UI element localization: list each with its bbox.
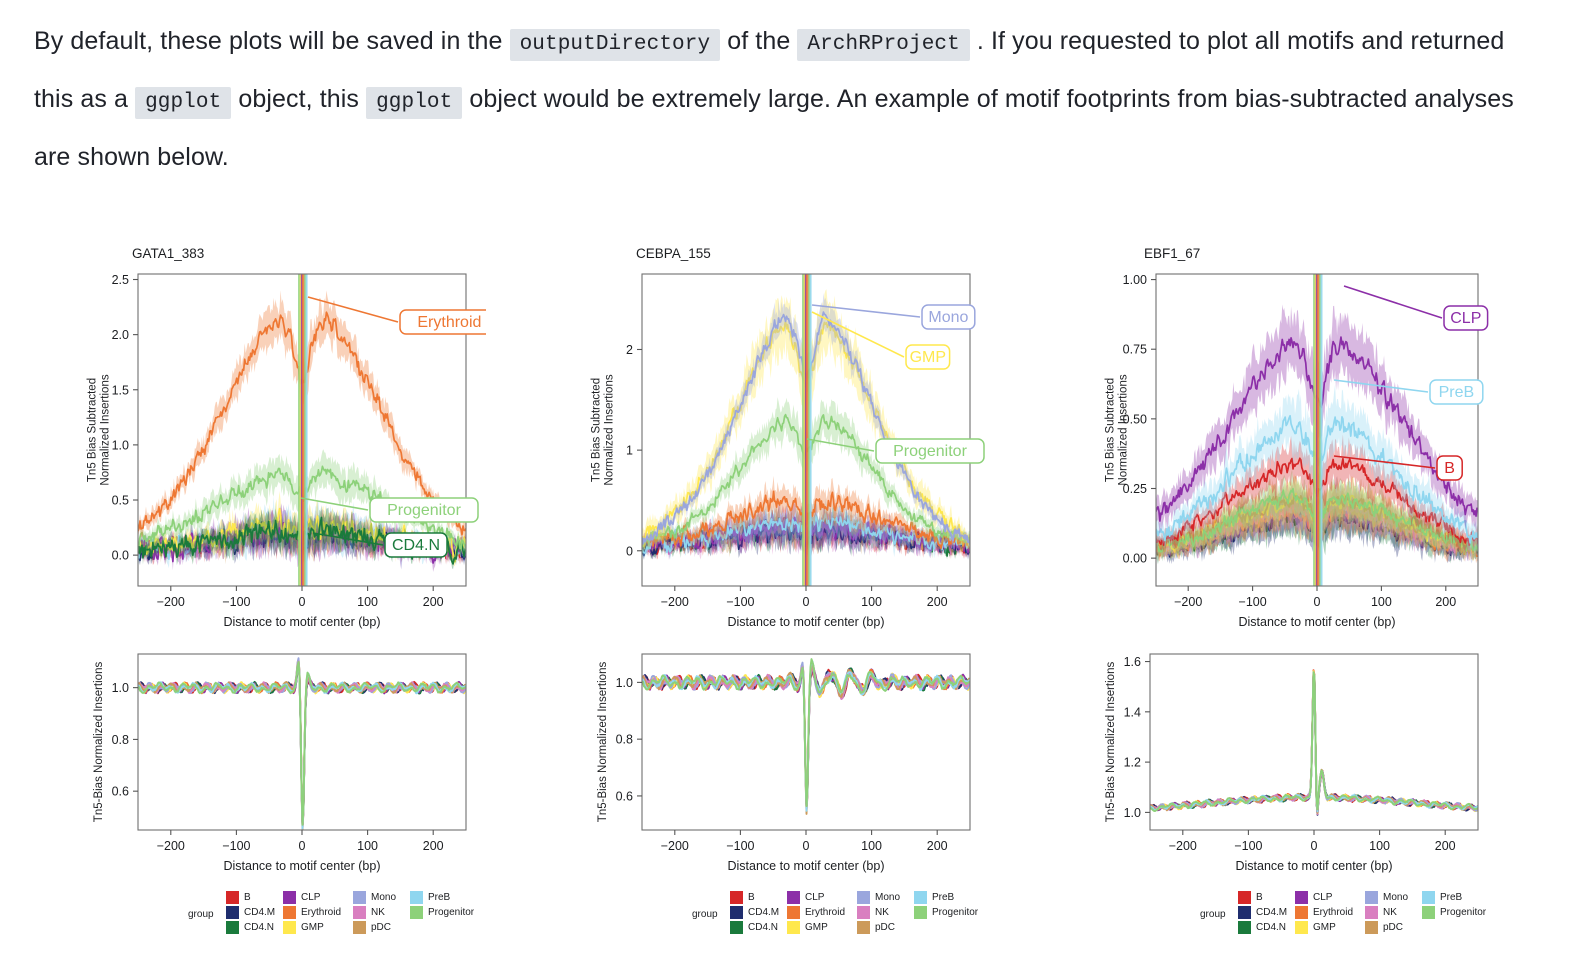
- legend-column: PreBProgenitor: [410, 890, 474, 920]
- legend-label: CLP: [301, 891, 320, 904]
- legend-swatch-gmp: [787, 921, 800, 934]
- legend-item-b[interactable]: B: [730, 890, 779, 905]
- y-tick-label: 1.6: [1124, 655, 1141, 669]
- callout-label: CLP: [1450, 310, 1481, 327]
- y-tick-label: 0: [626, 544, 633, 558]
- legend-column: MonoNKpDC: [353, 890, 396, 935]
- legend-swatch-mono: [857, 891, 870, 904]
- legend-label: Progenitor: [428, 906, 474, 919]
- legend-item-erythroid[interactable]: Erythroid: [283, 905, 341, 920]
- legend-item-mono[interactable]: Mono: [857, 890, 900, 905]
- legend-title: group: [188, 909, 214, 920]
- legend-label: Erythroid: [301, 906, 341, 919]
- legend-swatch-erythroid: [787, 906, 800, 919]
- legend-item-b[interactable]: B: [226, 890, 275, 905]
- legend-item-nk[interactable]: NK: [857, 905, 900, 920]
- legend-label: CD4.M: [1256, 906, 1287, 919]
- plot-surface-gata1-top: −200−10001002000.00.51.01.52.02.5Distanc…: [66, 256, 486, 631]
- x-tick-label: 200: [927, 839, 948, 853]
- legend-swatch-pdc: [857, 921, 870, 934]
- svg-text:Tn5-Bias Normalized Insertions: Tn5-Bias Normalized Insertions: [597, 662, 609, 823]
- legend-item-cd4-n[interactable]: CD4.N: [1238, 920, 1287, 935]
- legend-title: group: [692, 909, 718, 920]
- y-tick-label: 2.5: [112, 273, 129, 287]
- legend-item-erythroid[interactable]: Erythroid: [1295, 905, 1353, 920]
- x-tick-label: 100: [357, 839, 378, 853]
- y-axis-title: Tn5-Bias Normalized Insertions: [1105, 662, 1117, 823]
- inline-code-ggplot: ggplot: [366, 87, 462, 119]
- intro-paragraph: By default, these plots will be saved in…: [34, 14, 1544, 184]
- x-axis-title: Distance to motif center (bp): [727, 615, 884, 629]
- legend-label: PreB: [932, 891, 954, 904]
- legend-swatch-progenitor: [410, 906, 423, 919]
- legend-label: GMP: [805, 921, 828, 934]
- legend-swatch-clp: [1295, 891, 1308, 904]
- legend-label: Mono: [1383, 891, 1408, 904]
- y-tick-label: 1.0: [112, 438, 129, 452]
- legend-column: BCD4.MCD4.N: [730, 890, 779, 935]
- legend-item-mono[interactable]: Mono: [1365, 890, 1408, 905]
- plot-surface-cebpa-top: −200−1000100200012Distance to motif cent…: [570, 256, 990, 631]
- legend-swatch-b: [226, 891, 239, 904]
- callout-label: Mono: [928, 309, 968, 326]
- legend-swatch-cd4-n: [730, 921, 743, 934]
- chart-cebpa-bottom: −200−10001002000.60.81.0Distance to moti…: [570, 640, 990, 875]
- x-tick-label: 0: [1314, 595, 1321, 609]
- legend-swatch-cd4-n: [226, 921, 239, 934]
- legend-label: GMP: [1313, 921, 1336, 934]
- legend-column: CLPErythroidGMP: [787, 890, 845, 935]
- legend-item-pdc[interactable]: pDC: [353, 920, 396, 935]
- callout-label: GMP: [910, 349, 946, 366]
- x-tick-label: 100: [357, 595, 378, 609]
- x-tick-label: 100: [861, 839, 882, 853]
- legend-item-preb[interactable]: PreB: [410, 890, 474, 905]
- x-tick-label: −100: [222, 839, 250, 853]
- plot-surface-gata1-bottom: −200−10001002000.60.81.0Distance to moti…: [66, 640, 486, 875]
- legend-item-progenitor[interactable]: Progenitor: [410, 905, 474, 920]
- legend-label: CD4.N: [244, 921, 274, 934]
- legend-swatch-clp: [283, 891, 296, 904]
- y-axis-title: Tn5-Bias Normalized Insertions: [597, 662, 609, 823]
- chart-gata1-bottom: −200−10001002000.60.81.0Distance to moti…: [66, 640, 486, 875]
- x-axis-title: Distance to motif center (bp): [223, 615, 380, 629]
- x-tick-label: −100: [726, 839, 754, 853]
- legend-item-cd4-n[interactable]: CD4.N: [730, 920, 779, 935]
- legend-item-cd4-n[interactable]: CD4.N: [226, 920, 275, 935]
- legend-label: NK: [875, 906, 889, 919]
- y-tick-label: 1.0: [1124, 806, 1141, 820]
- svg-text:Tn5 Bias Subtracted: Tn5 Bias Subtracted: [1105, 378, 1117, 482]
- y-tick-label: 0.8: [112, 733, 129, 747]
- x-tick-label: 200: [423, 595, 444, 609]
- x-tick-label: 200: [927, 595, 948, 609]
- legend-swatch-cd4-n: [1238, 921, 1251, 934]
- legend-column: PreBProgenitor: [1422, 890, 1486, 920]
- x-tick-label: −200: [1169, 839, 1197, 853]
- legend-title: group: [1200, 909, 1226, 920]
- callout-label: Erythroid: [417, 314, 481, 331]
- legend-item-progenitor[interactable]: Progenitor: [914, 905, 978, 920]
- legend-label: pDC: [371, 921, 391, 934]
- y-axis-title: Tn5 Bias SubtractedNormalized Insertions: [591, 374, 616, 485]
- legend-item-preb[interactable]: PreB: [1422, 890, 1486, 905]
- chart-cebpa-top: −200−1000100200012Distance to motif cent…: [570, 256, 990, 631]
- svg-text:Tn5 Bias Subtracted: Tn5 Bias Subtracted: [87, 378, 99, 482]
- x-tick-label: 0: [299, 839, 306, 853]
- legend-swatch-erythroid: [1295, 906, 1308, 919]
- legend-swatch-pdc: [1365, 921, 1378, 934]
- legend-item-cd4-m[interactable]: CD4.M: [226, 905, 275, 920]
- legend-label: Mono: [371, 891, 396, 904]
- legend-label: Progenitor: [932, 906, 978, 919]
- x-tick-label: −200: [661, 839, 689, 853]
- x-tick-label: −200: [157, 839, 185, 853]
- x-tick-label: −100: [1234, 839, 1262, 853]
- legend-swatch-mono: [353, 891, 366, 904]
- legend-swatch-nk: [353, 906, 366, 919]
- legend-item-clp[interactable]: CLP: [1295, 890, 1353, 905]
- legend-label: Progenitor: [1440, 906, 1486, 919]
- inline-code-archrproject: ArchRProject: [797, 29, 969, 61]
- legend-label: pDC: [1383, 921, 1403, 934]
- legend-item-gmp[interactable]: GMP: [787, 920, 845, 935]
- plot-surface-cebpa-bottom: −200−10001002000.60.81.0Distance to moti…: [570, 640, 990, 875]
- legend-swatch-clp: [787, 891, 800, 904]
- legend-column: MonoNKpDC: [1365, 890, 1408, 935]
- legend-label: PreB: [1440, 891, 1462, 904]
- y-tick-label: 1: [626, 444, 633, 458]
- legend-column: CLPErythroidGMP: [1295, 890, 1353, 935]
- legend-swatch-cd4-m: [226, 906, 239, 919]
- legend-item-pdc[interactable]: pDC: [1365, 920, 1408, 935]
- legend-label: CD4.N: [748, 921, 778, 934]
- legend-item-pdc[interactable]: pDC: [857, 920, 900, 935]
- svg-text:Normalized Insertions: Normalized Insertions: [1118, 374, 1130, 485]
- y-axis-title: Tn5-Bias Normalized Insertions: [93, 662, 105, 823]
- legend-swatch-b: [730, 891, 743, 904]
- legend-swatch-progenitor: [1422, 906, 1435, 919]
- legend-swatch-mono: [1365, 891, 1378, 904]
- chart-gata1-top: −200−10001002000.00.51.01.52.02.5Distanc…: [66, 256, 486, 631]
- legend-item-gmp[interactable]: GMP: [283, 920, 341, 935]
- x-axis-title: Distance to motif center (bp): [223, 859, 380, 873]
- legend-label: B: [244, 891, 251, 904]
- legend-swatch-cd4-m: [1238, 906, 1251, 919]
- legend-item-erythroid[interactable]: Erythroid: [787, 905, 845, 920]
- x-tick-label: 200: [1435, 595, 1456, 609]
- y-tick-label: 1.0: [112, 681, 129, 695]
- legend-column: PreBProgenitor: [914, 890, 978, 920]
- legend-swatch-gmp: [1295, 921, 1308, 934]
- chart-ebf1-top: −200−10001002000.000.250.500.751.00Dista…: [1078, 256, 1498, 631]
- legend-column: CLPErythroidGMP: [283, 890, 341, 935]
- legend-item-nk[interactable]: NK: [353, 905, 396, 920]
- x-axis-title: Distance to motif center (bp): [727, 859, 884, 873]
- y-tick-label: 0.6: [616, 789, 633, 803]
- x-tick-label: −200: [661, 595, 689, 609]
- legend-label: CD4.M: [748, 906, 779, 919]
- legend-swatch-b: [1238, 891, 1251, 904]
- legend-swatch-erythroid: [283, 906, 296, 919]
- x-axis-title: Distance to motif center (bp): [1235, 859, 1392, 873]
- callout-label: B: [1444, 460, 1455, 477]
- legend-item-preb[interactable]: PreB: [914, 890, 978, 905]
- x-tick-label: 200: [1435, 839, 1456, 853]
- legend-swatch-preb: [410, 891, 423, 904]
- legend-swatch-preb: [1422, 891, 1435, 904]
- chart-ebf1-bottom: −200−10001002001.01.21.41.6Distance to m…: [1078, 640, 1498, 875]
- svg-text:Tn5-Bias Normalized Insertions: Tn5-Bias Normalized Insertions: [1105, 662, 1117, 823]
- plot-surface-ebf1-bottom: −200−10001002001.01.21.41.6Distance to m…: [1078, 640, 1498, 875]
- legend-column: BCD4.MCD4.N: [226, 890, 275, 935]
- svg-text:Normalized Insertions: Normalized Insertions: [100, 374, 112, 485]
- legend-item-gmp[interactable]: GMP: [1295, 920, 1353, 935]
- inline-code-ggplot: ggplot: [135, 87, 231, 119]
- y-tick-label: 1.2: [1124, 756, 1141, 770]
- panel-column-ebf1: EBF1_67 −200−10001002000.000.250.500.751…: [1078, 190, 1586, 968]
- legend-item-cd4-m[interactable]: CD4.M: [730, 905, 779, 920]
- y-tick-label: 2: [626, 343, 633, 357]
- y-tick-label: 0.6: [112, 785, 129, 799]
- center-artifact-bar: [1321, 274, 1323, 586]
- y-axis-title: Tn5 Bias SubtractedNormalized Insertions: [87, 374, 112, 485]
- y-tick-label: 0.00: [1123, 552, 1147, 566]
- legend-item-clp[interactable]: CLP: [283, 890, 341, 905]
- svg-text:Tn5 Bias Subtracted: Tn5 Bias Subtracted: [591, 378, 603, 482]
- y-tick-label: 1.00: [1123, 273, 1147, 287]
- svg-text:Normalized Insertions: Normalized Insertions: [604, 374, 616, 485]
- x-tick-label: 200: [423, 839, 444, 853]
- callout-label: PreB: [1439, 384, 1475, 401]
- y-tick-label: 2.0: [112, 328, 129, 342]
- x-tick-label: −100: [1239, 595, 1267, 609]
- legend-item-nk[interactable]: NK: [1365, 905, 1408, 920]
- x-tick-label: 100: [861, 595, 882, 609]
- x-tick-label: 0: [803, 839, 810, 853]
- panel-column-cebpa: CEBPA_155 −200−1000100200012Distance to …: [570, 190, 1090, 968]
- legend-swatch-pdc: [353, 921, 366, 934]
- y-tick-label: 1.5: [112, 383, 129, 397]
- center-artifact-bar: [306, 274, 308, 586]
- x-axis-title: Distance to motif center (bp): [1238, 615, 1395, 629]
- legend-item-clp[interactable]: CLP: [787, 890, 845, 905]
- y-tick-label: 0.0: [112, 549, 129, 563]
- y-tick-label: 0.75: [1123, 343, 1147, 357]
- legend-label: GMP: [301, 921, 324, 934]
- x-tick-label: 0: [803, 595, 810, 609]
- center-artifact-bar: [810, 274, 812, 586]
- y-tick-label: 0.5: [112, 494, 129, 508]
- legend-label: NK: [1383, 906, 1397, 919]
- legend-swatch-cd4-m: [730, 906, 743, 919]
- legend-label: CLP: [805, 891, 824, 904]
- legend-label: B: [748, 891, 755, 904]
- legend-label: NK: [371, 906, 385, 919]
- legend-column: MonoNKpDC: [857, 890, 900, 935]
- legend-label: CD4.M: [244, 906, 275, 919]
- callout-label: Progenitor: [893, 443, 967, 460]
- x-tick-label: 0: [1311, 839, 1318, 853]
- legend-swatch-progenitor: [914, 906, 927, 919]
- x-tick-label: −100: [222, 595, 250, 609]
- panel-column-gata1: GATA1_383 −200−10001002000.00.51.01.52.0…: [66, 190, 586, 968]
- svg-text:Tn5-Bias Normalized Insertions: Tn5-Bias Normalized Insertions: [93, 662, 105, 823]
- x-tick-label: 100: [1369, 839, 1390, 853]
- legend-item-b[interactable]: B: [1238, 890, 1287, 905]
- legend-label: B: [1256, 891, 1263, 904]
- x-tick-label: 100: [1371, 595, 1392, 609]
- legend-swatch-nk: [857, 906, 870, 919]
- legend-item-cd4-m[interactable]: CD4.M: [1238, 905, 1287, 920]
- x-tick-label: 0: [299, 595, 306, 609]
- inline-code-outputdirectory: outputDirectory: [510, 29, 721, 61]
- callout-label: CD4.N: [392, 537, 440, 554]
- callout-label: Progenitor: [387, 502, 461, 519]
- x-tick-label: −200: [1174, 595, 1202, 609]
- motif-footprint-figure: GATA1_383 −200−10001002000.00.51.01.52.0…: [0, 190, 1586, 968]
- y-tick-label: 1.4: [1124, 705, 1141, 719]
- legend-swatch-gmp: [283, 921, 296, 934]
- legend-column: BCD4.MCD4.N: [1238, 890, 1287, 935]
- legend-label: CLP: [1313, 891, 1332, 904]
- y-tick-label: 1.0: [616, 676, 633, 690]
- x-tick-label: −200: [157, 595, 185, 609]
- legend-label: CD4.N: [1256, 921, 1286, 934]
- legend-label: Erythroid: [805, 906, 845, 919]
- x-tick-label: −100: [726, 595, 754, 609]
- legend-label: PreB: [428, 891, 450, 904]
- legend-swatch-preb: [914, 891, 927, 904]
- plot-surface-ebf1-top: −200−10001002000.000.250.500.751.00Dista…: [1078, 256, 1498, 631]
- legend-swatch-nk: [1365, 906, 1378, 919]
- y-tick-label: 0.8: [616, 733, 633, 747]
- legend-item-progenitor[interactable]: Progenitor: [1422, 905, 1486, 920]
- legend-item-mono[interactable]: Mono: [353, 890, 396, 905]
- legend-label: Erythroid: [1313, 906, 1353, 919]
- legend-label: pDC: [875, 921, 895, 934]
- legend-label: Mono: [875, 891, 900, 904]
- y-axis-title: Tn5 Bias SubtractedNormalized Insertions: [1105, 374, 1130, 485]
